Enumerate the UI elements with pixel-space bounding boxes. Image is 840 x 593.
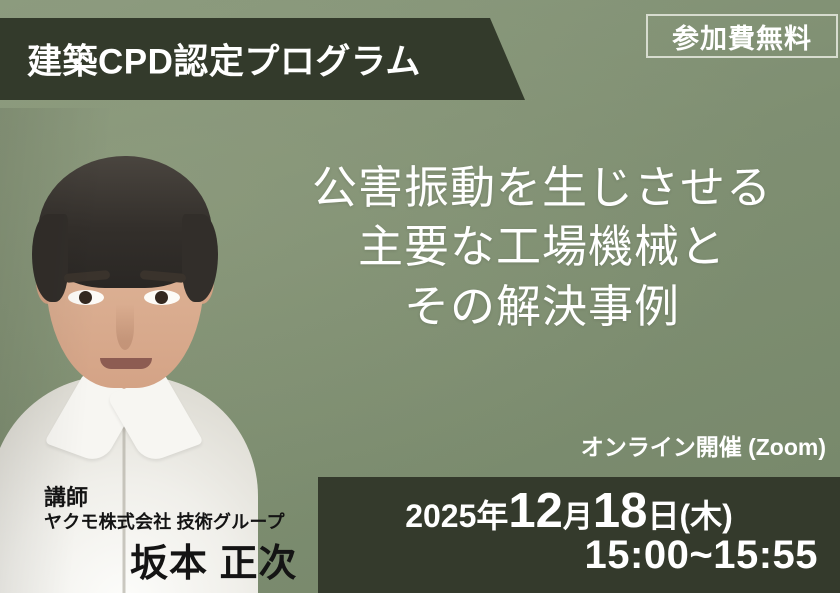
portrait-eye-left bbox=[68, 290, 104, 305]
event-time: 15:00~15:55 bbox=[585, 533, 818, 578]
title-line-2: 主要な工場機械と bbox=[252, 217, 832, 276]
free-participation-label: 参加費無料 bbox=[672, 17, 812, 56]
date-time-bar: 2025年12月18日(木) 15:00~15:55 bbox=[318, 477, 840, 593]
free-participation-badge: 参加費無料 bbox=[646, 14, 838, 58]
seminar-title: 公害振動を生じさせる 主要な工場機械と その解決事例 bbox=[252, 158, 832, 336]
event-month-kanji: 月 bbox=[563, 501, 593, 534]
event-weekday: (木) bbox=[679, 498, 732, 534]
online-format-label: オンライン開催 (Zoom) bbox=[581, 428, 826, 462]
event-month-number: 12 bbox=[508, 484, 563, 538]
event-year: 2025年 bbox=[405, 498, 508, 534]
portrait-hair bbox=[38, 156, 212, 288]
cpd-program-label: 建築CPD認定プログラム bbox=[27, 34, 421, 85]
event-day-kanji: 日 bbox=[647, 498, 679, 534]
title-line-3: その解決事例 bbox=[252, 277, 832, 336]
event-date: 2025年12月18日(木) bbox=[318, 483, 820, 539]
webinar-poster: 建築CPD認定プログラム 参加費無料 公害振動を生じさせる 主要な工場機械と そ… bbox=[0, 0, 840, 593]
speaker-organization: ヤクモ株式会社 技術グループ bbox=[44, 508, 285, 534]
portrait-nose bbox=[116, 304, 134, 350]
speaker-name: 坂本 正次 bbox=[130, 532, 298, 587]
portrait-eye-right bbox=[144, 290, 180, 305]
event-day-number: 18 bbox=[593, 484, 648, 538]
cpd-program-ribbon: 建築CPD認定プログラム bbox=[0, 18, 525, 100]
portrait-mouth bbox=[100, 358, 152, 369]
title-line-1: 公害振動を生じさせる bbox=[252, 158, 832, 217]
